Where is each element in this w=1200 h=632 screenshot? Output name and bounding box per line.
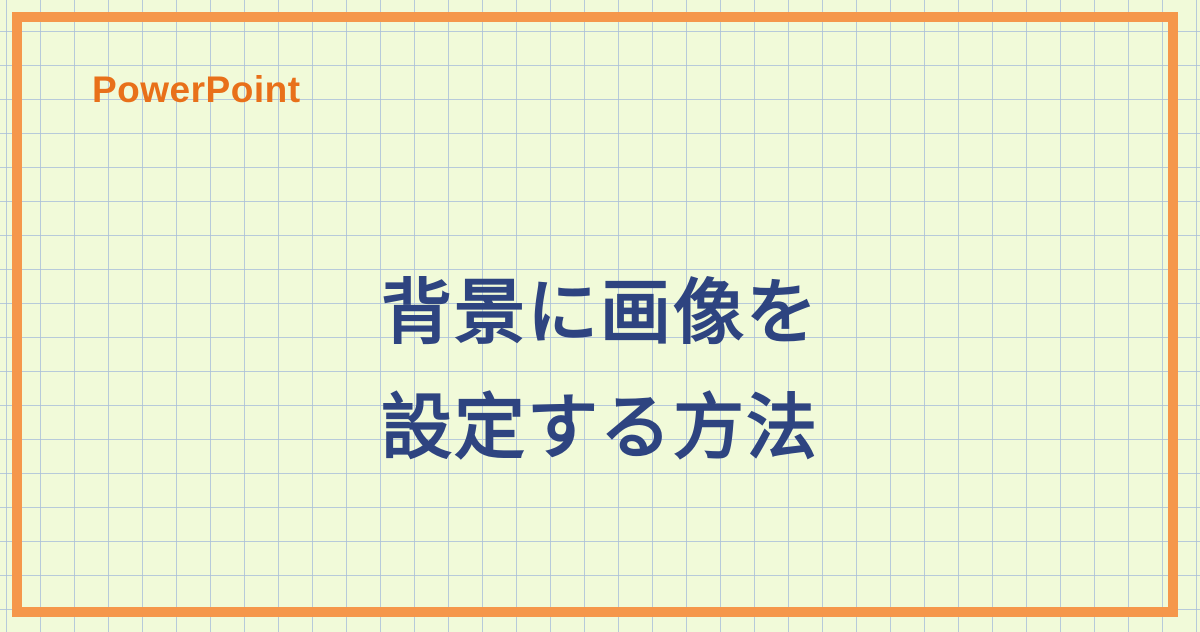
title-line-2: 設定する方法 [0,371,1200,486]
title-line-1: 背景に画像を [0,256,1200,371]
title-block: 背景に画像を 設定する方法 [0,256,1200,486]
slide-canvas: PowerPoint 背景に画像を 設定する方法 [0,0,1200,632]
category-label: PowerPoint [92,70,301,111]
